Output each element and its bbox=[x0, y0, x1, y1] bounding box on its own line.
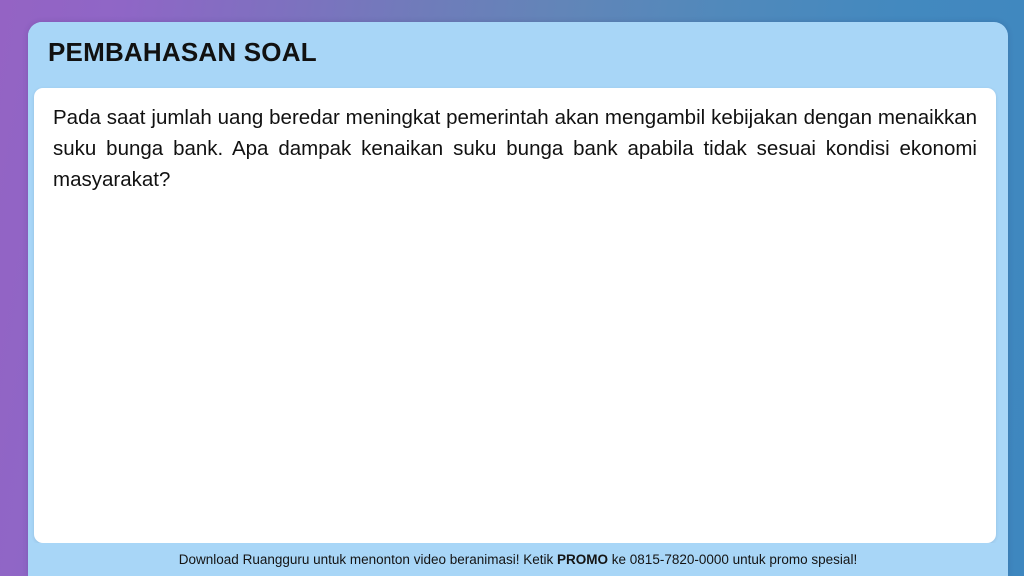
slide-root: ruang guru PEMBAHASAN SOAL Pada saat jum… bbox=[0, 0, 1024, 576]
promo-text-part2: ke 0815-7820-0000 untuk promo spesial! bbox=[608, 552, 857, 567]
promo-footer-text: Download Ruangguru untuk menonton video … bbox=[179, 552, 857, 567]
content-panel: Pada saat jumlah uang beredar meningkat … bbox=[34, 88, 996, 543]
question-text: Pada saat jumlah uang beredar meningkat … bbox=[53, 102, 977, 195]
promo-keyword: PROMO bbox=[557, 552, 608, 567]
slide-card: PEMBAHASAN SOAL Pada saat jumlah uang be… bbox=[28, 22, 1008, 576]
promo-footer: Download Ruangguru untuk menonton video … bbox=[28, 543, 1008, 576]
title-tab: PEMBAHASAN SOAL bbox=[28, 22, 458, 90]
page-title: PEMBAHASAN SOAL bbox=[48, 37, 317, 68]
promo-text-part1: Download Ruangguru untuk menonton video … bbox=[179, 552, 557, 567]
